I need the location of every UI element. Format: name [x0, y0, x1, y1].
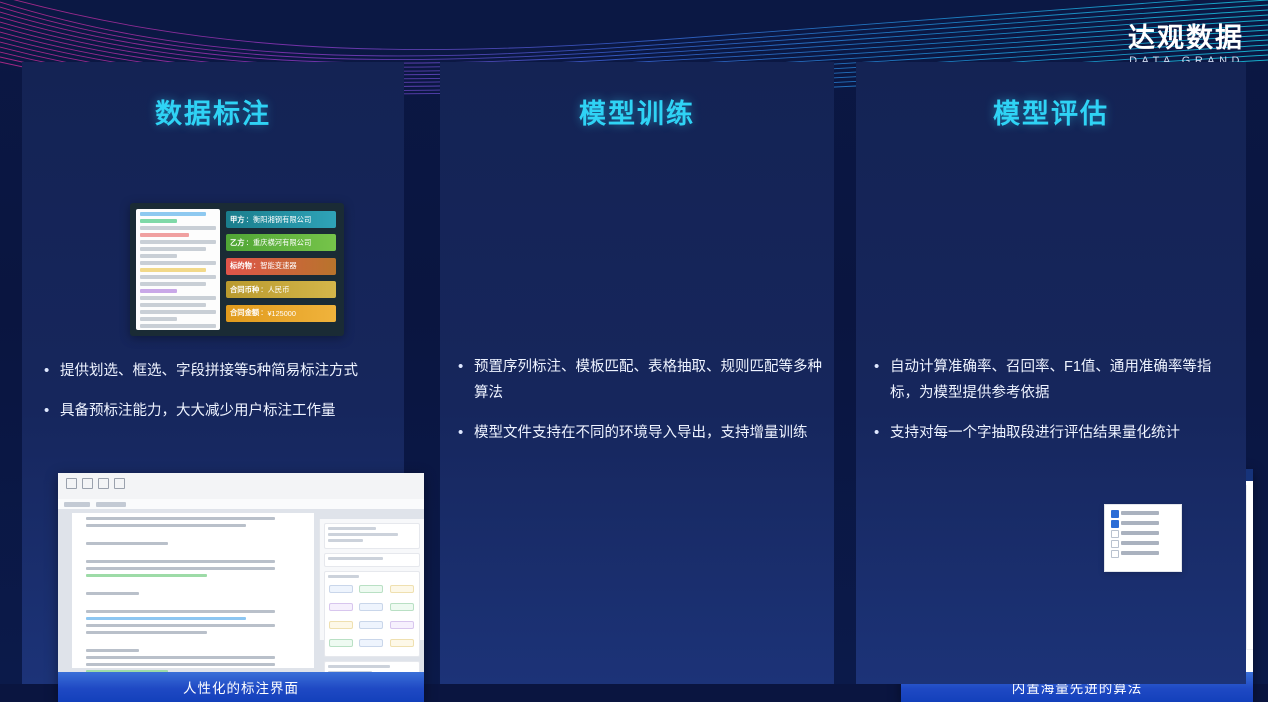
doc-line: [140, 240, 216, 244]
card-line: [328, 527, 376, 530]
doc-line: [140, 310, 216, 314]
doc-line: [140, 261, 216, 265]
shot1-caption: 人性化的标注界面: [58, 672, 424, 702]
dropdown-option-label: [1121, 521, 1159, 525]
panel-data-annotation: 数据标注 甲方： 衡阳湘钢有限公司: [22, 62, 404, 684]
screenshot-annotation-ui[interactable]: 人性化的标注界面: [58, 473, 424, 702]
bullet-item: • 模型文件支持在不同的环境导入导出，支持增量训练: [458, 420, 822, 446]
bullet-dot-icon: •: [458, 354, 474, 406]
doc-heading: [86, 592, 139, 595]
label-chip[interactable]: [329, 621, 353, 629]
shot1-page-area: [58, 509, 424, 672]
bullet-text: 预置序列标注、模板匹配、表格抽取、规则匹配等多种算法: [474, 354, 822, 406]
doc-line: [86, 656, 275, 659]
dropdown-option[interactable]: [1105, 528, 1181, 538]
bullet-dot-icon: •: [458, 420, 474, 446]
annotation-graphic: 甲方： 衡阳湘钢有限公司 乙方： 重庆横河有限公司 标的物： 智能变速器 合同币…: [130, 203, 344, 336]
dropdown-option-label: [1121, 541, 1159, 545]
dropdown-option-label: [1121, 511, 1159, 515]
sidebar-chip-card[interactable]: [324, 571, 420, 657]
label-chip[interactable]: [329, 585, 353, 593]
doc-line: [86, 560, 275, 563]
annotation-document-preview: [136, 209, 220, 330]
label-chip[interactable]: [390, 603, 414, 611]
bullet-list-3: • 自动计算准确率、召回率、F1值、通用准确率等指标，为模型提供参考依据 • 支…: [874, 354, 1234, 460]
brand-logo: 达观数据 DATA GRAND: [1128, 24, 1244, 67]
checkbox-icon[interactable]: [1111, 540, 1119, 548]
doc-line: [140, 275, 216, 279]
label-chip[interactable]: [359, 639, 383, 647]
doc-highlight-line: [140, 289, 177, 293]
bullet-dot-icon: •: [44, 358, 60, 384]
doc-line: [86, 631, 207, 634]
bullet-text: 自动计算准确率、召回率、F1值、通用准确率等指标，为模型提供参考依据: [890, 354, 1234, 406]
doc-highlight-line: [140, 233, 189, 237]
checkbox-icon[interactable]: [1111, 530, 1119, 538]
bullet-text: 模型文件支持在不同的环境导入导出，支持增量训练: [474, 420, 822, 446]
doc-highlight-line: [140, 212, 206, 216]
doc-line: [86, 610, 275, 613]
panel-model-evaluation: 模型评估 准确率 F1 召回率 • 自动计算准确率、召回率、F1值、通用准确率等…: [856, 62, 1246, 684]
field-value: 人民币: [267, 285, 289, 295]
doc-line: [140, 282, 206, 286]
bullet-item: • 提供划选、框选、字段拼接等5种简易标注方式: [44, 358, 392, 384]
column-filter-dropdown[interactable]: [1104, 504, 1182, 572]
doc-line: [86, 517, 275, 520]
field-chip-party-b[interactable]: 乙方： 重庆横河有限公司: [226, 234, 336, 251]
bullet-dot-icon: •: [874, 420, 890, 446]
doc-line: [140, 324, 216, 328]
toolbar-icon[interactable]: [114, 478, 125, 489]
bullet-item: • 预置序列标注、模板匹配、表格抽取、规则匹配等多种算法: [458, 354, 822, 406]
field-key: 合同币种: [230, 285, 259, 295]
field-chip-party-a[interactable]: 甲方： 衡阳湘钢有限公司: [226, 211, 336, 228]
field-key: 合同金额: [230, 308, 259, 318]
dropdown-option[interactable]: [1105, 508, 1181, 518]
field-chip-subject[interactable]: 标的物： 智能变速器: [226, 258, 336, 275]
field-key: 甲方: [230, 215, 245, 225]
dropdown-option[interactable]: [1105, 518, 1181, 528]
panel-title-3: 模型评估: [856, 92, 1246, 131]
card-line: [328, 539, 363, 542]
panel-title-2: 模型训练: [440, 92, 834, 131]
toolbar-icon[interactable]: [98, 478, 109, 489]
doc-line: [86, 624, 275, 627]
label-chip[interactable]: [359, 621, 383, 629]
doc-heading: [86, 542, 168, 545]
field-value: ¥125000: [267, 309, 295, 318]
bullet-item: • 支持对每一个字抽取段进行评估结果量化统计: [874, 420, 1234, 446]
bullet-dot-icon: •: [44, 398, 60, 424]
doc-heading: [86, 649, 139, 652]
bullet-text: 提供划选、框选、字段拼接等5种简易标注方式: [60, 358, 392, 384]
card-line: [328, 533, 398, 536]
shot1-tab[interactable]: [64, 502, 90, 507]
bullet-item: • 具备预标注能力，大大减少用户标注工作量: [44, 398, 392, 424]
sidebar-card[interactable]: [324, 553, 420, 567]
label-chip[interactable]: [359, 603, 383, 611]
doc-highlight-line: [86, 617, 246, 620]
checkbox-icon[interactable]: [1111, 550, 1119, 558]
bullet-list-1: • 提供划选、框选、字段拼接等5种简易标注方式 • 具备预标注能力，大大减少用户…: [44, 358, 392, 438]
bullet-list-2: • 预置序列标注、模板匹配、表格抽取、规则匹配等多种算法 • 模型文件支持在不同…: [458, 354, 822, 460]
doc-line: [140, 317, 177, 321]
shot1-annotation-sidebar[interactable]: [319, 519, 424, 640]
doc-highlight-line: [86, 574, 207, 577]
card-line: [328, 665, 390, 668]
bullet-text: 支持对每一个字抽取段进行评估结果量化统计: [890, 420, 1234, 446]
doc-line: [86, 663, 275, 666]
field-key: 乙方: [230, 238, 245, 248]
dropdown-option-label: [1121, 551, 1159, 555]
doc-line: [140, 254, 177, 258]
toolbar-icon[interactable]: [82, 478, 93, 489]
label-chip[interactable]: [390, 621, 414, 629]
checkbox-checked-icon[interactable]: [1111, 520, 1119, 528]
field-value: 重庆横河有限公司: [253, 238, 311, 248]
doc-line: [140, 303, 206, 307]
doc-highlight-line: [140, 268, 206, 272]
dropdown-option-label: [1121, 531, 1159, 535]
extracted-field-list: 甲方： 衡阳湘钢有限公司 乙方： 重庆横河有限公司 标的物： 智能变速器 合同币…: [226, 211, 336, 328]
logo-text-cn: 达观数据: [1128, 24, 1244, 52]
bullet-item: • 自动计算准确率、召回率、F1值、通用准确率等指标，为模型提供参考依据: [874, 354, 1234, 406]
shot1-tab[interactable]: [96, 502, 126, 507]
checkbox-checked-icon[interactable]: [1111, 510, 1119, 518]
card-line: [328, 557, 383, 560]
field-key: 标的物: [230, 261, 252, 271]
label-chip[interactable]: [359, 585, 383, 593]
doc-line: [140, 247, 206, 251]
shot1-document: [72, 513, 314, 668]
label-chip[interactable]: [329, 639, 353, 647]
label-chip[interactable]: [390, 639, 414, 647]
label-chip[interactable]: [329, 603, 353, 611]
doc-highlight-line: [140, 219, 177, 223]
panel-title-1: 数据标注: [22, 92, 404, 131]
toolbar-icon[interactable]: [66, 478, 77, 489]
bullet-text: 具备预标注能力，大大减少用户标注工作量: [60, 398, 392, 424]
dropdown-option[interactable]: [1105, 548, 1181, 558]
doc-line: [140, 296, 216, 300]
field-chip-currency[interactable]: 合同币种： 人民币: [226, 281, 336, 298]
field-value: 衡阳湘钢有限公司: [253, 215, 311, 225]
sidebar-card[interactable]: [324, 523, 420, 549]
doc-line: [140, 226, 216, 230]
field-chip-amount[interactable]: 合同金额： ¥125000: [226, 305, 336, 322]
dropdown-option[interactable]: [1105, 538, 1181, 548]
doc-line: [86, 524, 246, 527]
label-chip[interactable]: [390, 585, 414, 593]
bullet-dot-icon: •: [874, 354, 890, 406]
doc-line: [86, 567, 275, 570]
field-value: 智能变速器: [260, 261, 296, 271]
card-line: [328, 575, 359, 578]
panel-model-training: 模型训练 TEXT CNN LR BERT/ ALBERT w2v Fastte…: [440, 62, 834, 684]
shot1-toolbar: [58, 473, 424, 500]
